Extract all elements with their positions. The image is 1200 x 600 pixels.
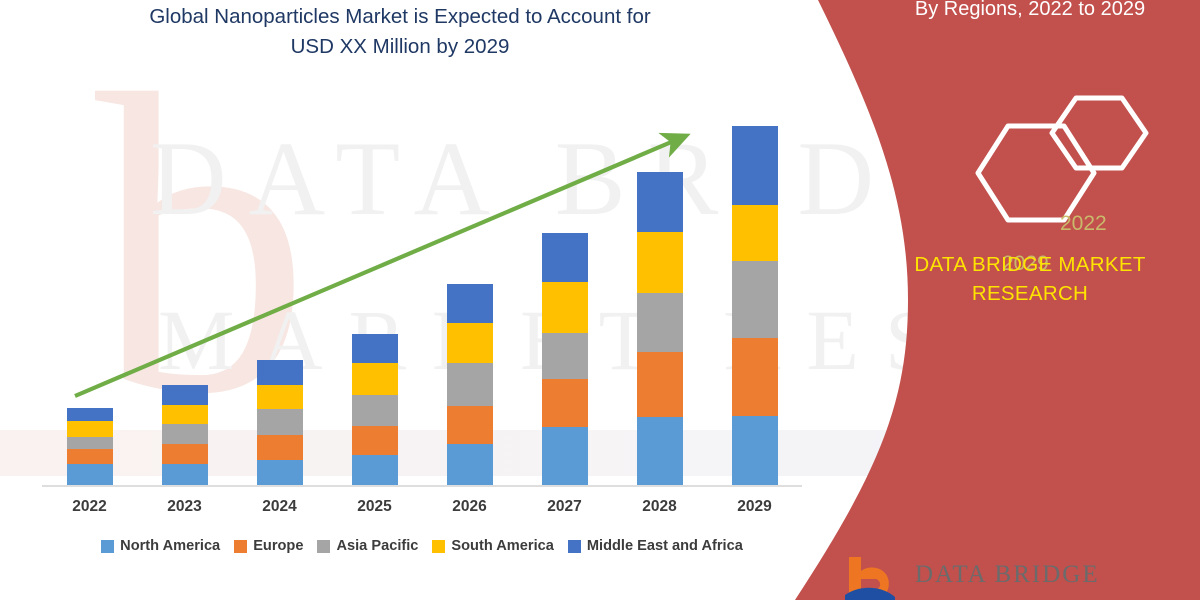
bar-segment-2022-asia-pacific[interactable] xyxy=(67,437,113,449)
bar-2023[interactable] xyxy=(162,385,208,485)
bar-segment-2028-south-america[interactable] xyxy=(637,232,683,293)
legend-item-north-america[interactable]: North America xyxy=(101,538,220,554)
bar-segment-2026-middle-east-and-africa[interactable] xyxy=(447,284,493,323)
panel-content: By Regions, 2022 to 2029 2022 2029 DATA … xyxy=(860,0,1200,600)
legend-swatch-north-america xyxy=(101,540,114,553)
bar-segment-2028-asia-pacific[interactable] xyxy=(637,293,683,352)
bar-segment-2027-middle-east-and-africa[interactable] xyxy=(542,233,588,281)
bar-segment-2023-europe[interactable] xyxy=(162,444,208,464)
chart-legend: North AmericaEuropeAsia PacificSouth Ame… xyxy=(42,538,802,554)
x-axis-label-2028: 2028 xyxy=(615,498,705,516)
bar-segment-2026-asia-pacific[interactable] xyxy=(447,363,493,407)
bar-segment-2028-north-america[interactable] xyxy=(637,417,683,485)
panel-title: By Regions, 2022 to 2029 xyxy=(860,0,1200,22)
bar-segment-2023-middle-east-and-africa[interactable] xyxy=(162,385,208,405)
stacked-bar-chart: 20222023202420252026202720282029 xyxy=(0,0,800,600)
legend-swatch-south-america xyxy=(432,540,445,553)
x-axis-label-2025: 2025 xyxy=(330,498,420,516)
bar-2022[interactable] xyxy=(67,408,113,485)
bar-segment-2022-south-america[interactable] xyxy=(67,421,113,436)
footer-logo-text: DATA BRIDGE xyxy=(915,555,1100,589)
legend-item-europe[interactable]: Europe xyxy=(234,538,303,554)
legend-item-south-america[interactable]: South America xyxy=(432,538,553,554)
bar-segment-2025-south-america[interactable] xyxy=(352,363,398,395)
bar-segment-2023-south-america[interactable] xyxy=(162,405,208,424)
bar-2024[interactable] xyxy=(257,360,303,485)
bar-segment-2022-north-america[interactable] xyxy=(67,464,113,485)
x-axis-line xyxy=(42,485,802,487)
bar-segment-2026-north-america[interactable] xyxy=(447,444,493,485)
legend-item-asia-pacific[interactable]: Asia Pacific xyxy=(317,538,418,554)
bar-2025[interactable] xyxy=(352,334,398,485)
hexagon-group: 2022 2029 xyxy=(860,88,1200,238)
bar-segment-2025-europe[interactable] xyxy=(352,426,398,454)
x-axis-label-2023: 2023 xyxy=(140,498,230,516)
legend-label-middle-east-and-africa: Middle East and Africa xyxy=(587,538,743,554)
legend-label-north-america: North America xyxy=(120,538,220,554)
bar-segment-2024-middle-east-and-africa[interactable] xyxy=(257,360,303,385)
x-axis-label-2022: 2022 xyxy=(45,498,135,516)
bar-2028[interactable] xyxy=(637,172,683,485)
bar-segment-2028-middle-east-and-africa[interactable] xyxy=(637,172,683,233)
bar-segment-2022-europe[interactable] xyxy=(67,449,113,464)
bar-segment-2024-south-america[interactable] xyxy=(257,385,303,409)
bar-segment-2024-north-america[interactable] xyxy=(257,460,303,485)
bar-segment-2027-europe[interactable] xyxy=(542,379,588,427)
legend-item-middle-east-and-africa[interactable]: Middle East and Africa xyxy=(568,538,743,554)
hexagon-label-2022: 2022 xyxy=(1060,212,1107,236)
legend-label-asia-pacific: Asia Pacific xyxy=(336,538,418,554)
legend-label-europe: Europe xyxy=(253,538,303,554)
footer-logo: DATA BRIDGE xyxy=(845,555,1200,600)
bar-segment-2027-north-america[interactable] xyxy=(542,427,588,485)
x-axis-label-2027: 2027 xyxy=(520,498,610,516)
legend-swatch-middle-east-and-africa xyxy=(568,540,581,553)
bar-segment-2026-south-america[interactable] xyxy=(447,323,493,362)
bar-segment-2025-middle-east-and-africa[interactable] xyxy=(352,334,398,363)
legend-label-south-america: South America xyxy=(451,538,553,554)
bar-2026[interactable] xyxy=(447,284,493,485)
bar-segment-2026-europe[interactable] xyxy=(447,406,493,444)
bar-segment-2023-asia-pacific[interactable] xyxy=(162,424,208,443)
bar-segment-2023-north-america[interactable] xyxy=(162,464,208,485)
bar-segment-2024-asia-pacific[interactable] xyxy=(257,409,303,435)
bar-segment-2024-europe[interactable] xyxy=(257,435,303,459)
bar-segment-2025-north-america[interactable] xyxy=(352,455,398,485)
legend-swatch-asia-pacific xyxy=(317,540,330,553)
brand-line2: RESEARCH xyxy=(860,279,1200,308)
brand-line1: DATA BRIDGE MARKET xyxy=(860,250,1200,279)
b-logo-icon xyxy=(845,555,903,600)
bar-segment-2028-europe[interactable] xyxy=(637,352,683,418)
x-axis-label-2026: 2026 xyxy=(425,498,515,516)
hexagon-outlines-icon xyxy=(860,88,1200,238)
bar-segment-2022-middle-east-and-africa[interactable] xyxy=(67,408,113,421)
bar-2027[interactable] xyxy=(542,233,588,485)
bar-segment-2025-asia-pacific[interactable] xyxy=(352,395,398,427)
x-axis-label-2024: 2024 xyxy=(235,498,325,516)
legend-swatch-europe xyxy=(234,540,247,553)
x-axis-labels: 20222023202420252026202720282029 xyxy=(42,498,802,526)
infographic-canvas: b DATA BRIDGE MARKET RESEARCH Global Nan… xyxy=(0,0,1200,600)
bar-segment-2027-asia-pacific[interactable] xyxy=(542,333,588,379)
brand-name: DATA BRIDGE MARKET RESEARCH xyxy=(860,250,1200,308)
bar-segment-2027-south-america[interactable] xyxy=(542,282,588,334)
